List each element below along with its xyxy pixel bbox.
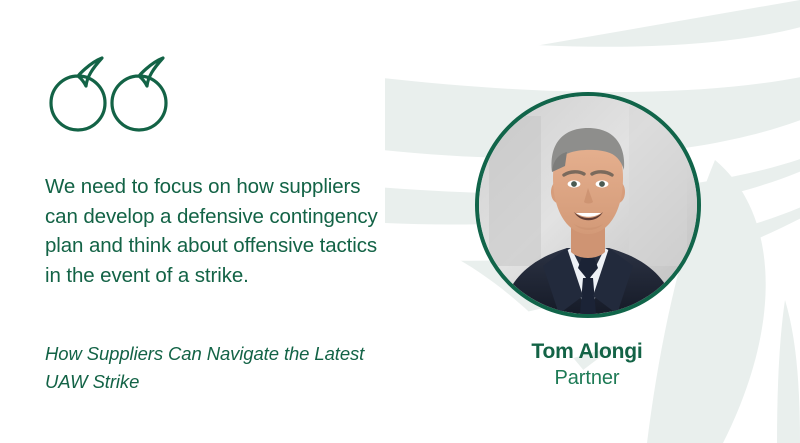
person-name: Tom Alongi (437, 339, 737, 365)
avatar (475, 92, 701, 318)
person-title: Partner (437, 365, 737, 391)
person-info: Tom Alongi Partner (437, 339, 737, 391)
double-quote-open-icon (47, 55, 169, 133)
quote-attribution: How Suppliers Can Navigate the Latest UA… (45, 340, 375, 396)
quote-text: We need to focus on how suppliers can de… (45, 172, 381, 290)
headshot-photo (479, 96, 697, 314)
quote-card: Tom Alongi Partner We need to focus on h… (0, 0, 800, 443)
quote-column: We need to focus on how suppliers can de… (45, 0, 385, 443)
